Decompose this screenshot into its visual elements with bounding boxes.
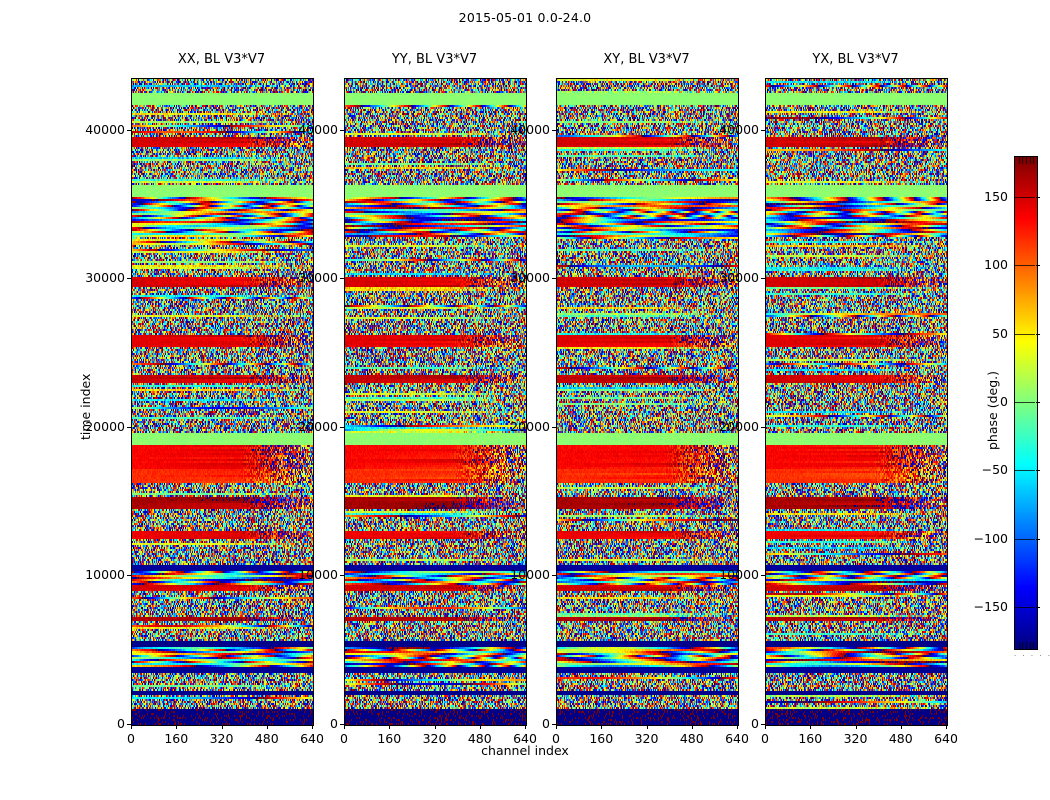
colorbar-tick-mark-inner bbox=[1015, 265, 1035, 266]
colorbar-tick-mark-inner bbox=[1015, 197, 1035, 198]
y-tick-mark bbox=[552, 575, 556, 576]
y-tick-label: 0 bbox=[59, 716, 125, 731]
x-tick-mark bbox=[810, 725, 811, 729]
colorbar-tick-mark-inner bbox=[1015, 334, 1035, 335]
y-tick-label: 30000 bbox=[484, 270, 550, 285]
waterfall-panel-yy[interactable] bbox=[344, 78, 527, 726]
x-tick-mark bbox=[601, 725, 602, 729]
colorbar-tick-label: −150 bbox=[952, 599, 1008, 614]
colorbar-tick-mark bbox=[1036, 470, 1040, 471]
colorbar-tick-label: 50 bbox=[952, 326, 1008, 341]
x-tick-mark bbox=[480, 725, 481, 729]
y-tick-label: 10000 bbox=[484, 567, 550, 582]
x-tick-mark bbox=[435, 725, 436, 729]
x-tick-mark bbox=[556, 725, 557, 729]
colorbar-tick-mark-inner bbox=[1015, 539, 1035, 540]
y-tick-label: 30000 bbox=[272, 270, 338, 285]
x-tick-mark bbox=[389, 725, 390, 729]
figure-canvas: 2015-05-01 0.0-24.0 XX, BL V3*V701000020… bbox=[0, 0, 1050, 800]
x-tick-mark bbox=[946, 725, 947, 729]
panel-title-yy: YY, BL V3*V7 bbox=[344, 52, 525, 67]
colorbar bbox=[1014, 156, 1038, 650]
y-tick-label: 20000 bbox=[484, 419, 550, 434]
x-tick-mark bbox=[176, 725, 177, 729]
panel-title-xx: XX, BL V3*V7 bbox=[131, 52, 312, 67]
y-tick-mark bbox=[127, 427, 131, 428]
waterfall-image-xy bbox=[557, 79, 738, 725]
x-axis-label: channel index bbox=[0, 743, 1050, 758]
colorbar-extend-dots: · · · · · · bbox=[1014, 652, 1050, 660]
y-tick-mark bbox=[552, 427, 556, 428]
waterfall-image-xx bbox=[132, 79, 313, 725]
colorbar-tick-mark-inner bbox=[1015, 470, 1035, 471]
x-tick-mark bbox=[222, 725, 223, 729]
x-tick-mark bbox=[765, 725, 766, 729]
y-tick-label: 30000 bbox=[59, 270, 125, 285]
y-tick-label: 0 bbox=[693, 716, 759, 731]
y-tick-mark bbox=[761, 130, 765, 131]
y-tick-mark bbox=[761, 278, 765, 279]
waterfall-panel-xx[interactable] bbox=[131, 78, 314, 726]
colorbar-tick-label: −100 bbox=[952, 531, 1008, 546]
y-tick-label: 40000 bbox=[59, 122, 125, 137]
x-tick-mark bbox=[267, 725, 268, 729]
colorbar-tick-mark bbox=[1036, 402, 1040, 403]
y-tick-mark bbox=[127, 278, 131, 279]
x-tick-mark bbox=[647, 725, 648, 729]
waterfall-panel-yx[interactable] bbox=[765, 78, 948, 726]
y-tick-mark bbox=[340, 575, 344, 576]
colorbar-tick-mark bbox=[1036, 265, 1040, 266]
colorbar-label: phase (deg.) bbox=[985, 371, 1000, 450]
x-tick-mark bbox=[856, 725, 857, 729]
colorbar-tick-mark-inner bbox=[1015, 402, 1035, 403]
y-tick-mark bbox=[552, 130, 556, 131]
figure-suptitle: 2015-05-01 0.0-24.0 bbox=[0, 10, 1050, 25]
colorbar-tick-mark bbox=[1036, 607, 1040, 608]
y-tick-mark bbox=[761, 575, 765, 576]
y-tick-mark bbox=[127, 575, 131, 576]
y-tick-label: 10000 bbox=[272, 567, 338, 582]
x-tick-mark bbox=[344, 725, 345, 729]
waterfall-image-yy bbox=[345, 79, 526, 725]
colorbar-tick-mark bbox=[1036, 539, 1040, 540]
y-tick-label: 20000 bbox=[693, 419, 759, 434]
panel-title-xy: XY, BL V3*V7 bbox=[556, 52, 737, 67]
colorbar-tick-label: 100 bbox=[952, 257, 1008, 272]
waterfall-panel-xy[interactable] bbox=[556, 78, 739, 726]
y-tick-label: 0 bbox=[272, 716, 338, 731]
y-tick-mark bbox=[552, 278, 556, 279]
y-tick-label: 10000 bbox=[693, 567, 759, 582]
y-tick-label: 30000 bbox=[693, 270, 759, 285]
colorbar-tick-mark bbox=[1036, 197, 1040, 198]
y-tick-mark bbox=[340, 130, 344, 131]
x-tick-mark bbox=[901, 725, 902, 729]
x-tick-mark bbox=[131, 725, 132, 729]
y-tick-label: 40000 bbox=[272, 122, 338, 137]
colorbar-tick-mark-inner bbox=[1015, 607, 1035, 608]
y-tick-label: 0 bbox=[484, 716, 550, 731]
y-tick-label: 10000 bbox=[59, 567, 125, 582]
colorbar-tick-label: −50 bbox=[952, 462, 1008, 477]
y-tick-mark bbox=[340, 278, 344, 279]
y-tick-mark bbox=[340, 427, 344, 428]
y-tick-mark bbox=[761, 427, 765, 428]
y-tick-label: 20000 bbox=[272, 419, 338, 434]
panel-title-yx: YX, BL V3*V7 bbox=[765, 52, 946, 67]
y-tick-label: 40000 bbox=[693, 122, 759, 137]
y-tick-label: 40000 bbox=[484, 122, 550, 137]
waterfall-image-yx bbox=[766, 79, 947, 725]
y-axis-label: time index bbox=[78, 374, 93, 440]
colorbar-tick-mark bbox=[1036, 334, 1040, 335]
y-tick-mark bbox=[127, 130, 131, 131]
colorbar-tick-label: 150 bbox=[952, 189, 1008, 204]
